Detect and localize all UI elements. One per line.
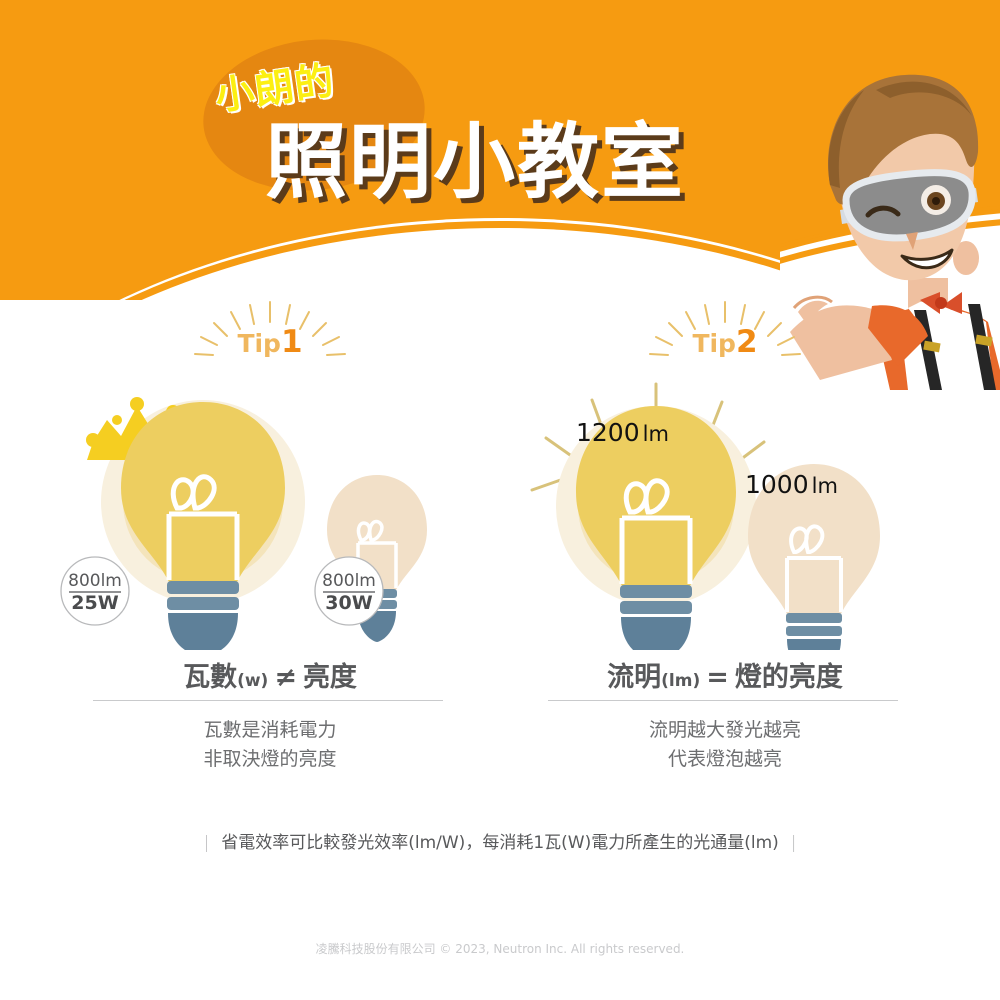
tip-1-subline-1: 瓦數是消耗電力 — [55, 716, 485, 745]
tip-1-result: 亮度 — [303, 662, 357, 693]
tip-2-unit: (lm) — [661, 671, 700, 691]
tip-1-headline: 瓦數(w)≠亮度 — [55, 655, 485, 694]
tip-1-operator: ≠ — [268, 662, 303, 693]
badge-lumens-left: 800lm — [59, 571, 131, 591]
bright-bulb-lumen-unit: lm — [640, 422, 669, 446]
infographic-root: 小朗的 照明小教室 — [0, 0, 1000, 1000]
tip-2-subline-1: 流明越大發光越亮 — [510, 716, 940, 745]
tip-2-term: 流明 — [607, 662, 661, 693]
tip-1-bulbs: 800lm 25W 800lm 30W — [55, 380, 485, 650]
tip-word-2: Tip — [692, 329, 736, 358]
tips-container: Tip1 — [0, 300, 1000, 840]
tip-2-subline-2: 代表燈泡越亮 — [510, 745, 940, 774]
tip-label-1: Tip1 — [55, 324, 485, 360]
tip-number-2: 2 — [736, 324, 758, 360]
tip-1-term: 瓦數 — [183, 662, 237, 693]
efficiency-badge-left: 800lm 25W — [59, 555, 131, 627]
dim-bulb-lumen-value: 1000 — [745, 470, 809, 499]
tip-label-2: Tip2 — [510, 324, 940, 360]
tip-2-result: 燈的亮度 — [735, 662, 843, 693]
dim-bulb-lumen-label: 1000lm — [745, 470, 838, 499]
tip-2-headline: 流明(lm)=燈的亮度 — [510, 655, 940, 694]
note-right-bar: | — [779, 833, 809, 853]
tip-1-subline-2: 非取決燈的亮度 — [55, 745, 485, 774]
note-text: 省電效率可比較發光效率(lm/W)，每消耗1瓦(W)電力所產生的光通量(lm) — [221, 833, 779, 853]
efficiency-badge-right: 800lm 30W — [313, 555, 385, 627]
copyright-text: 凌騰科技股份有限公司 © 2023, Neutron Inc. All righ… — [0, 940, 1000, 957]
tip-word-1: Tip — [237, 329, 281, 358]
tip-1-unit: (w) — [237, 671, 268, 691]
tip-number-1: 1 — [281, 324, 303, 360]
tip-1-subtext: 瓦數是消耗電力 非取決燈的亮度 — [55, 716, 485, 774]
tip-panel-1: Tip1 — [55, 300, 485, 840]
bright-bulb-lumen-value: 1200 — [576, 418, 640, 447]
tip-badge-1: Tip1 — [55, 300, 485, 380]
badge-watts-right: 30W — [313, 592, 385, 614]
footer-note: |省電效率可比較發光效率(lm/W)，每消耗1瓦(W)電力所產生的光通量(lm)… — [0, 828, 1000, 853]
tip-2-divider — [548, 700, 898, 701]
tip-2-bulbs: 1200lm 1000lm — [510, 380, 940, 650]
tip-1-divider — [93, 700, 443, 701]
dim-bulb-lumen-unit: lm — [809, 474, 838, 498]
tip-2-operator: = — [700, 662, 735, 693]
badge-lumens-right: 800lm — [313, 571, 385, 591]
bright-bulb-1 — [121, 402, 285, 650]
tip-badge-2: Tip2 — [510, 300, 940, 380]
note-left-bar: | — [192, 833, 222, 853]
badge-watts-left: 25W — [59, 592, 131, 614]
tip-2-subtext: 流明越大發光越亮 代表燈泡越亮 — [510, 716, 940, 774]
bright-bulb-lumen-label: 1200lm — [576, 418, 669, 447]
page-title: 照明小教室 — [265, 95, 685, 214]
tip-panel-2: Tip2 — [510, 300, 940, 840]
